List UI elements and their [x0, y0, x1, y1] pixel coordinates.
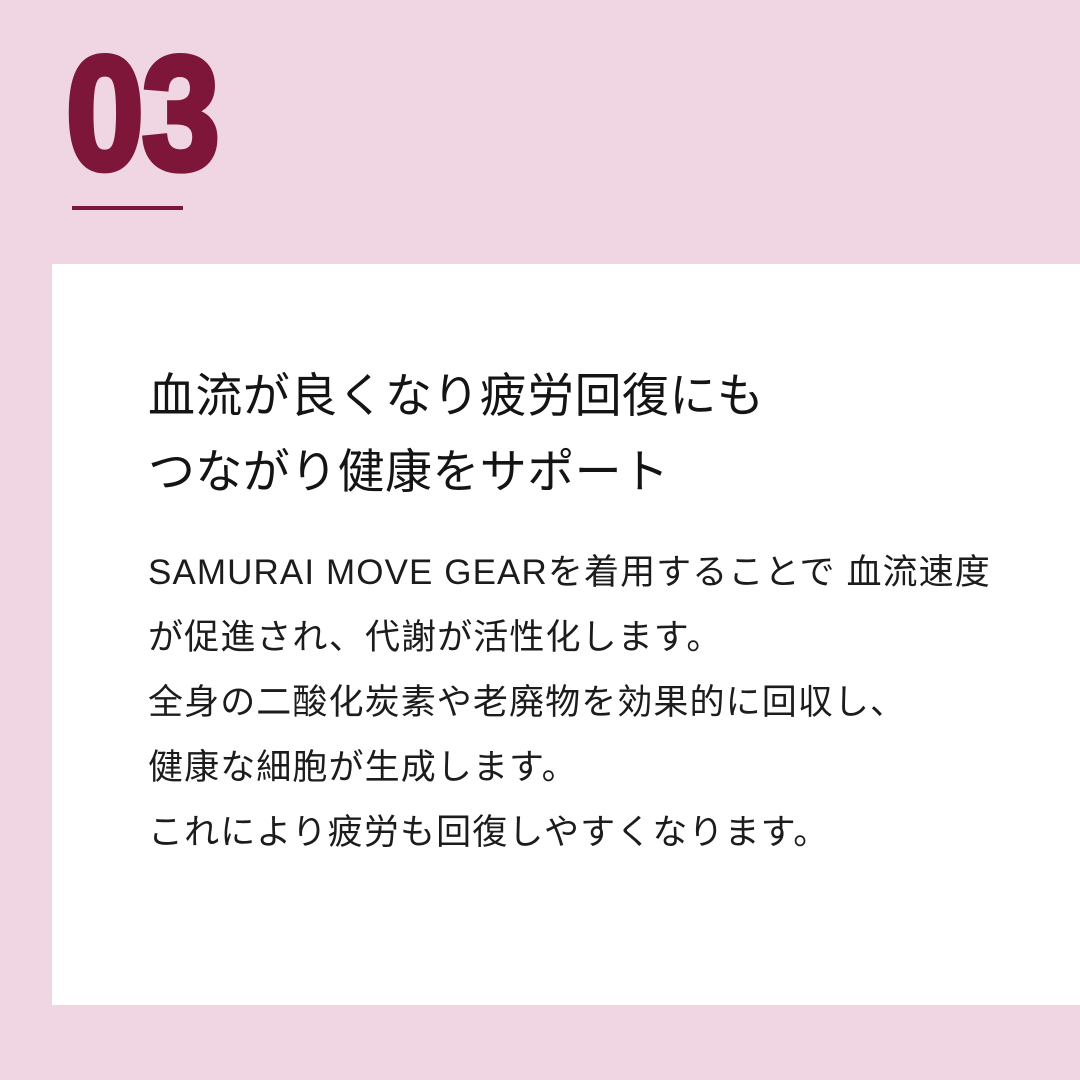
body-line-2: が促進され、代謝が活性化します。: [148, 605, 1058, 670]
section-number: 03: [66, 33, 218, 194]
headline-line-1: 血流が良くなり疲労回復にも: [148, 358, 1008, 434]
body-line-3: 全身の二酸化炭素や老廃物を効果的に回収し、: [148, 670, 1058, 735]
body-line-5: これにより疲労も回復しやすくなります。: [148, 800, 1058, 865]
body-line-4: 健康な細胞が生成します。: [148, 735, 1058, 800]
body-line-1: SAMURAI MOVE GEARを着用することで 血流速度: [148, 540, 1058, 605]
headline: 血流が良くなり疲労回復にも つながり健康をサポート: [148, 358, 1008, 510]
headline-line-2: つながり健康をサポート: [148, 434, 1008, 510]
body-copy: SAMURAI MOVE GEARを着用することで 血流速度 が促進され、代謝が…: [148, 540, 1058, 865]
slide-root: 03 血流が良くなり疲労回復にも つながり健康をサポート SAMURAI MOV…: [0, 0, 1080, 1080]
section-divider-rule: [72, 206, 183, 210]
